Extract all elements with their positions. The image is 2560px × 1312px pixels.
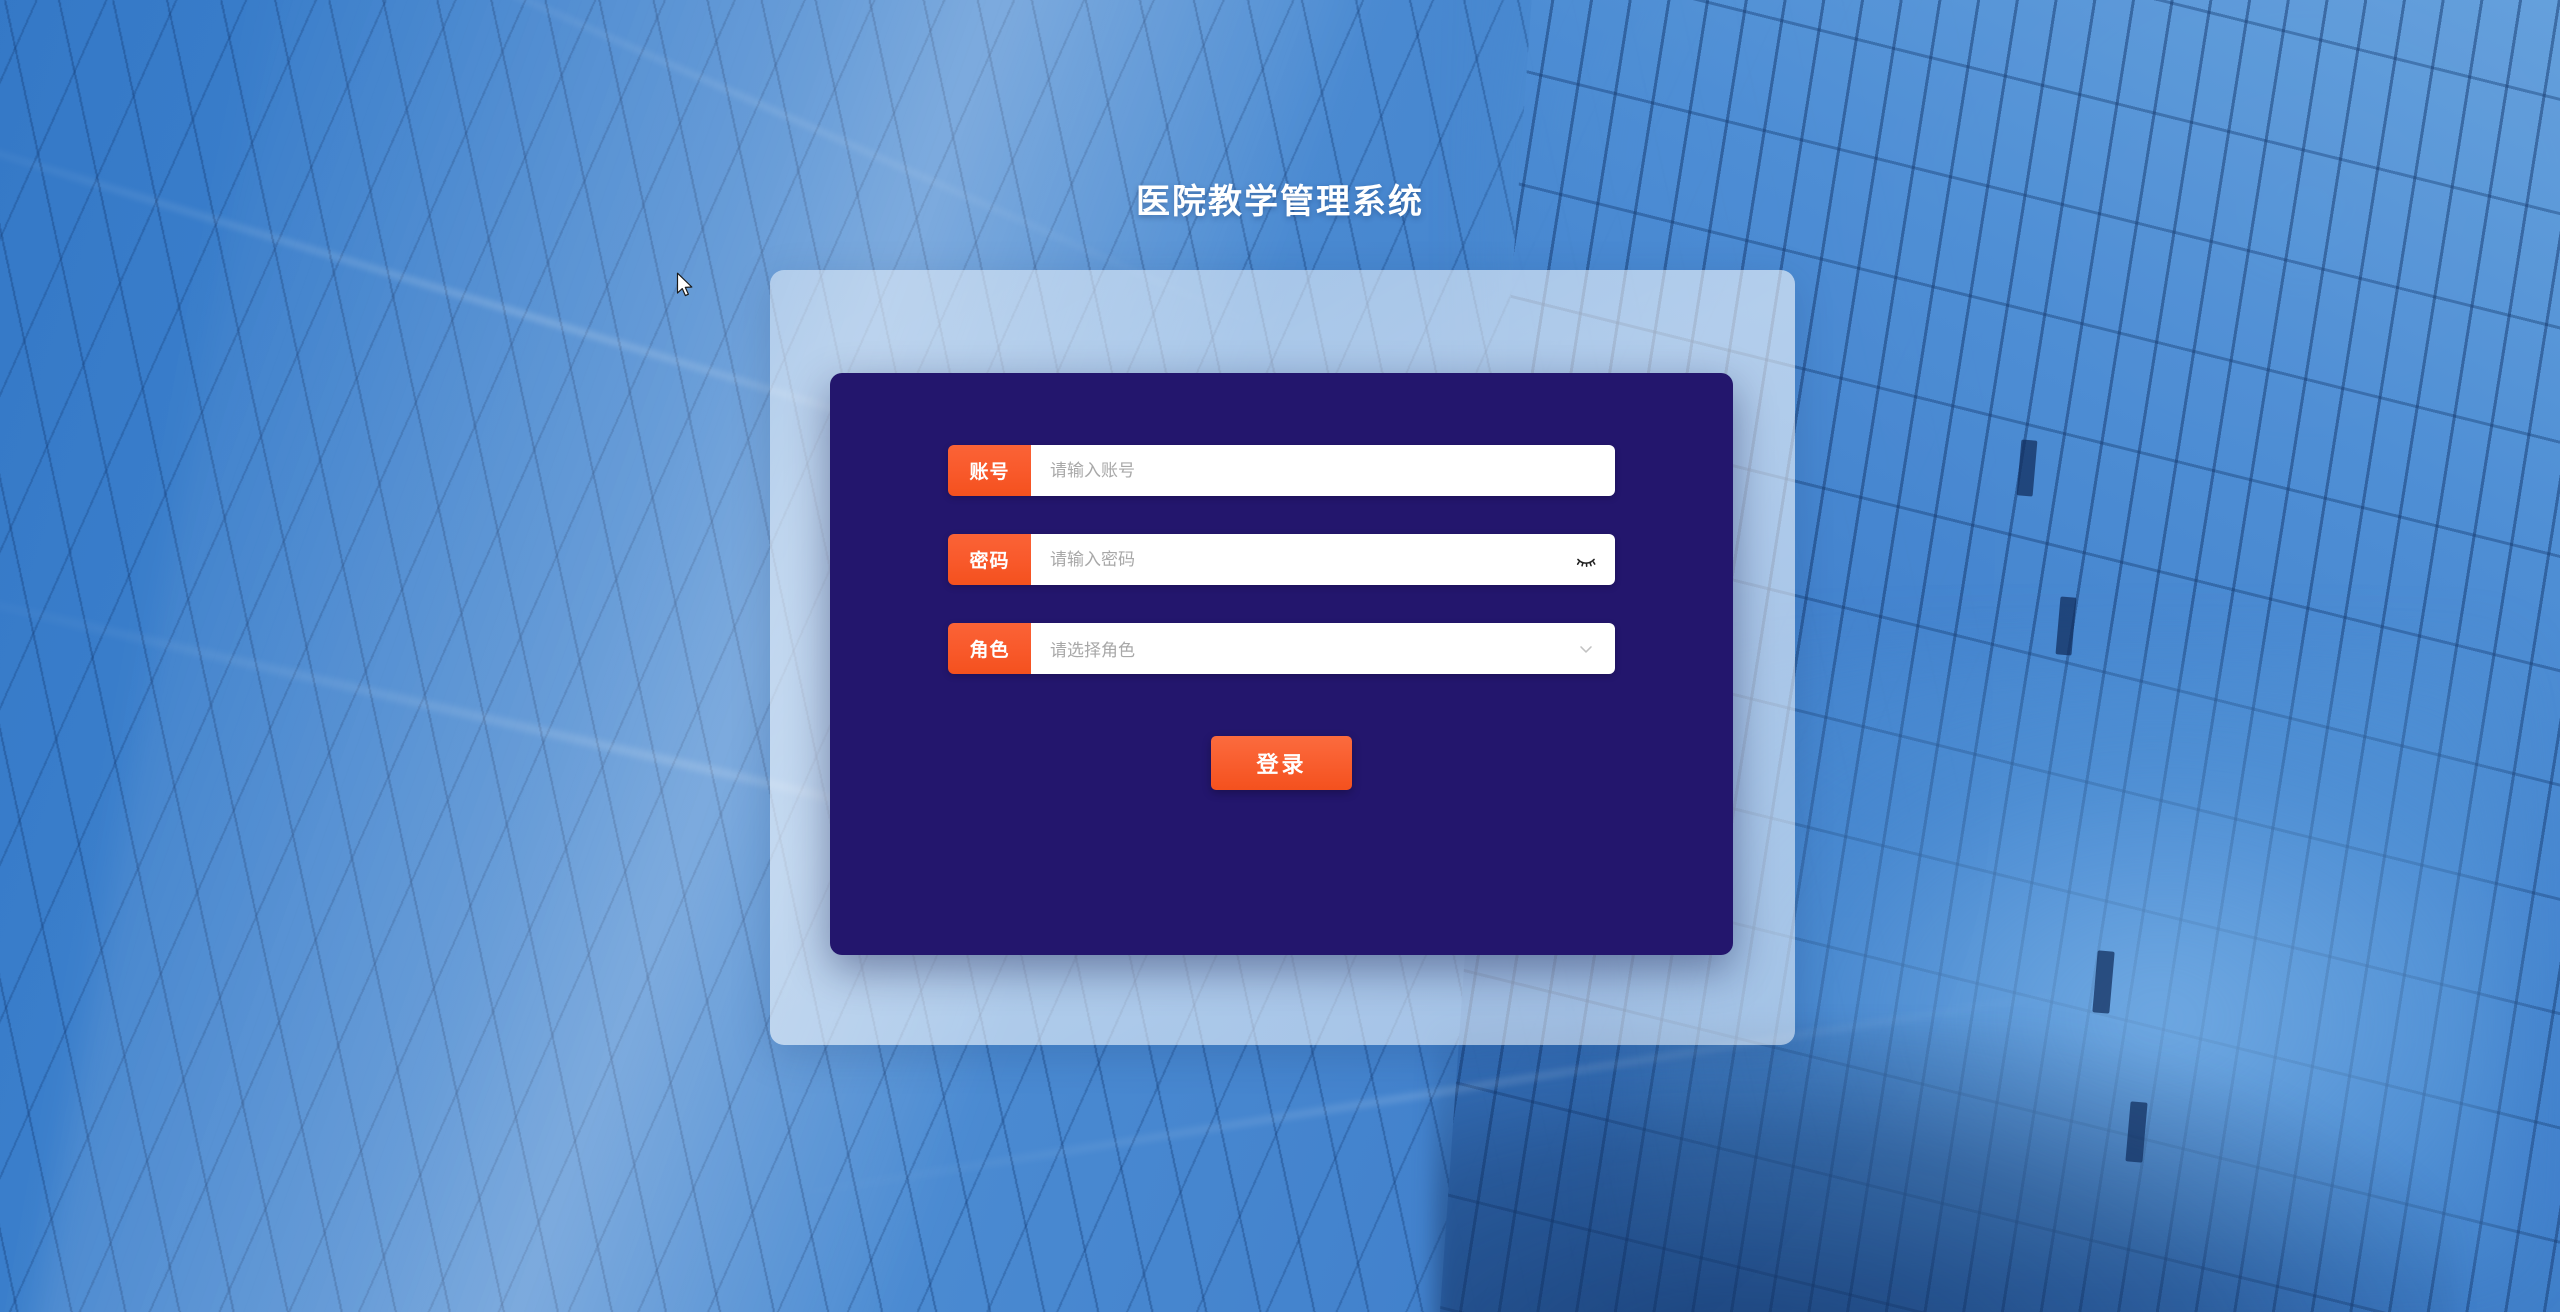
account-label: 账号 [948, 445, 1031, 496]
arrow-pointer-icon [676, 272, 696, 305]
eye-closed-icon[interactable] [1573, 549, 1599, 571]
role-field-row: 角色 请选择角色 [948, 623, 1615, 674]
role-select-box[interactable]: 请选择角色 [1031, 623, 1615, 674]
account-input-box[interactable] [1031, 445, 1615, 496]
role-label: 角色 [948, 623, 1031, 674]
login-button[interactable]: 登录 [1211, 736, 1352, 790]
password-input[interactable] [1050, 534, 1573, 585]
account-field-row: 账号 [948, 445, 1615, 496]
password-field-row: 密码 [948, 534, 1615, 585]
role-select-placeholder: 请选择角色 [1050, 636, 1573, 661]
password-input-box[interactable] [1031, 534, 1615, 585]
login-page: 医院教学管理系统 账号 密码 [0, 0, 2560, 1312]
login-card: 账号 密码 [830, 373, 1733, 955]
page-title: 医院教学管理系统 [1136, 174, 1424, 223]
password-label: 密码 [948, 534, 1031, 585]
chevron-down-icon[interactable] [1573, 639, 1599, 659]
account-input[interactable] [1050, 445, 1599, 496]
